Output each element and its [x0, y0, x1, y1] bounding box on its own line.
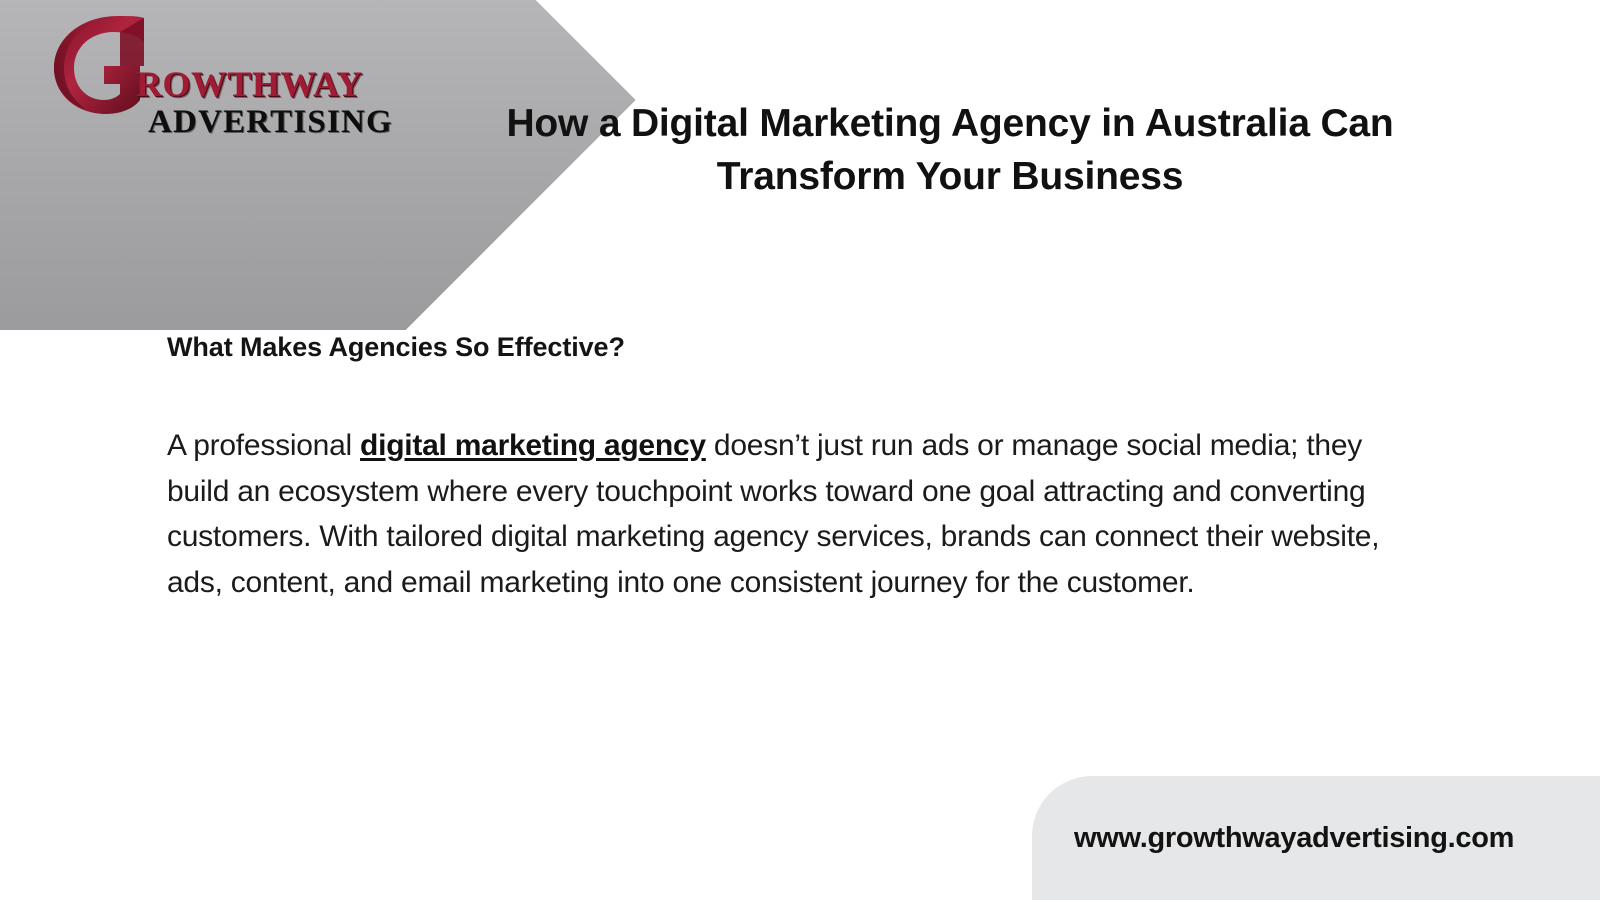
digital-marketing-agency-link[interactable]: digital marketing agency [360, 429, 706, 462]
brand-logo: ROWTHWAY ADVERTISING [48, 14, 358, 134]
website-url[interactable]: www.growthwayadvertising.com [1074, 822, 1514, 855]
logo-wordmark: ROWTHWAY ADVERTISING [136, 66, 393, 139]
footer-url-pill: www.growthwayadvertising.com [1032, 776, 1600, 900]
body-content: What Makes Agencies So Effective? A prof… [167, 330, 1432, 605]
logo-line1: ROWTHWAY [136, 66, 393, 102]
logo-line2: ADVERTISING [148, 106, 393, 139]
paragraph-text-before: A professional [167, 429, 360, 462]
section-subheading: What Makes Agencies So Effective? [167, 330, 1432, 365]
slide-canvas: ROWTHWAY ADVERTISING How a Digital Marke… [0, 0, 1600, 900]
page-title: How a Digital Marketing Agency in Austra… [470, 98, 1430, 203]
body-paragraph: A professional digital marketing agency … [167, 423, 1432, 605]
